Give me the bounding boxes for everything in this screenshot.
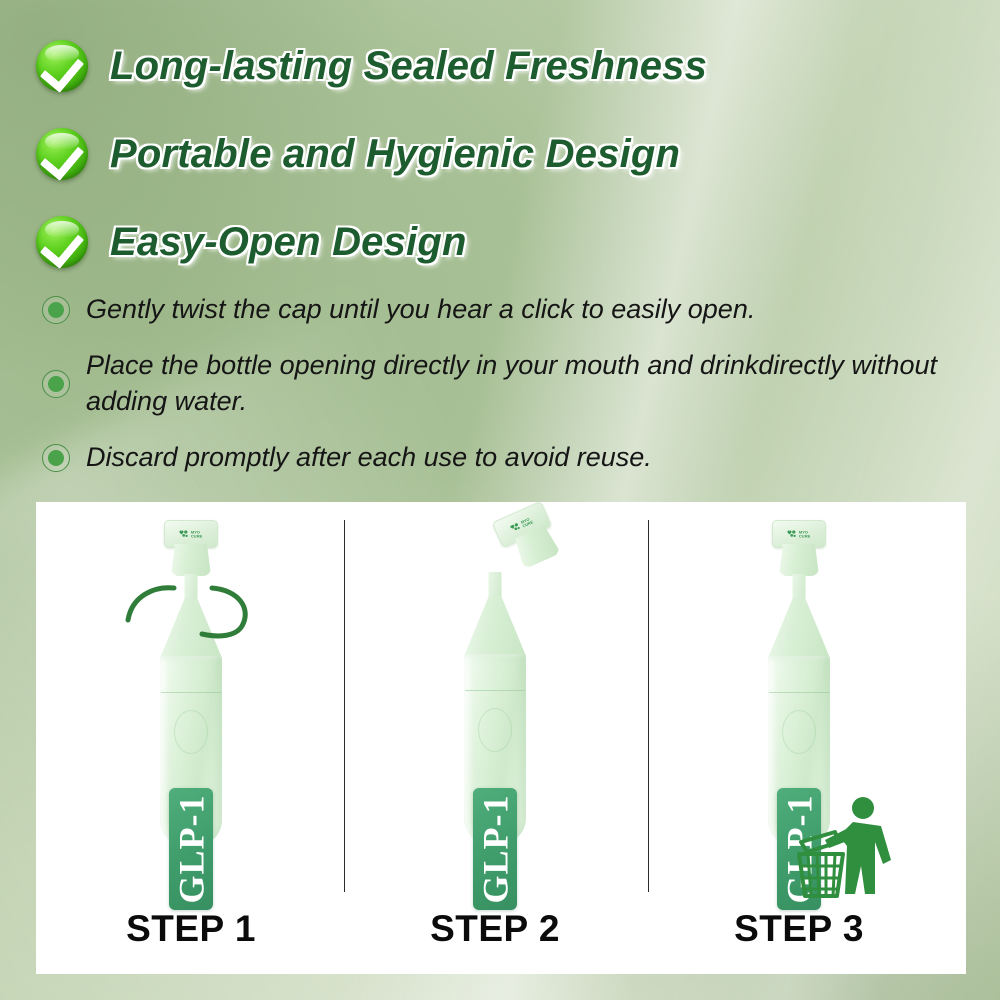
bottle-cap [779,544,819,576]
brand-mark-icon [787,530,797,539]
ring-bullet-icon [42,370,70,398]
instruction-list: Gently twist the cap until you hear a cl… [42,292,962,496]
infographic-canvas: Long-lasting Sealed Freshness Portable a… [0,0,1000,1000]
feature-item: Long-lasting Sealed Freshness [32,22,972,110]
feature-label: Long-lasting Sealed Freshness [110,44,707,89]
bottle-neck [489,572,502,598]
step-3: MYOCURE GLP-1 [644,502,954,974]
brand-name: MYOCURE [521,516,535,528]
brand-logo-icon: MYOCURE [509,516,534,534]
step-1: MYOCURE GLP-1 STEP 1 [36,502,346,974]
ring-bullet-icon [42,444,70,472]
instruction-text: Place the bottle opening directly in you… [86,348,946,420]
detached-cap-group: MYOCURE [451,490,598,623]
step-caption: STEP 1 [36,908,346,950]
feature-item: Easy-Open Design [32,198,972,286]
liquid-fill-line [161,692,221,693]
liquid-swirl [174,710,208,754]
liquid-swirl [478,708,512,752]
liquid-fill-line [769,692,829,693]
instruction-item: Discard promptly after each use to avoid… [42,440,962,476]
glp-label-text: GLP-1 [474,795,516,904]
dispose-in-bin-icon [795,796,903,900]
liquid-swirl [782,710,816,754]
ampoule-illustration-step3: MYOCURE GLP-1 [699,510,899,920]
feature-item: Portable and Hygienic Design [32,110,972,198]
brand-logo-icon: MYOCURE [179,530,202,539]
feature-label: Portable and Hygienic Design [110,132,680,177]
glp-label-text: GLP-1 [170,795,212,904]
instruction-text: Discard promptly after each use to avoid… [86,440,652,476]
steps-panel: MYOCURE GLP-1 STEP 1 [36,502,966,974]
brand-logo-icon: MYOCURE [787,530,810,539]
instruction-item: Gently twist the cap until you hear a cl… [42,292,962,328]
step-caption: STEP 2 [340,908,650,950]
instruction-text: Gently twist the cap until you hear a cl… [86,292,755,328]
instruction-item: Place the bottle opening directly in you… [42,348,962,420]
check-circle-icon [36,128,88,180]
step-caption: STEP 3 [644,908,954,950]
brand-name: MYOCURE [799,530,810,538]
check-circle-icon [36,40,88,92]
step-2: MYOCURE GLP-1 STEP 2 [340,502,650,974]
ring-bullet-icon [42,296,70,324]
check-circle-icon [36,216,88,268]
feature-list: Long-lasting Sealed Freshness Portable a… [32,22,972,286]
ampoule-illustration-step1: MYOCURE GLP-1 [111,510,271,920]
brand-name: MYOCURE [191,530,202,538]
twist-arrow-icon [116,568,266,648]
liquid-fill-line [465,690,525,691]
brand-mark-icon [179,530,189,539]
cap-tab: MYOCURE [164,520,218,548]
bottle-neck [793,574,806,600]
ampoule-illustration-step2: MYOCURE GLP-1 [405,510,585,920]
glp-label: GLP-1 [473,788,517,910]
cap-tab: MYOCURE [772,520,826,548]
glp-label: GLP-1 [169,788,213,910]
bottle-shoulder [768,598,830,658]
feature-label: Easy-Open Design [110,220,467,265]
